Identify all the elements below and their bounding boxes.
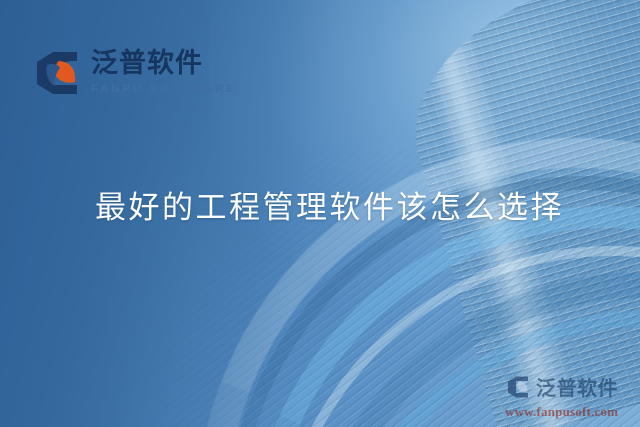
logo-wordmark: 泛普软件 FANPU SOFTWARE	[91, 50, 237, 95]
brand-logo[interactable]: 泛普软件 FANPU SOFTWARE	[33, 50, 237, 95]
fanpu-sail-mark-icon	[33, 51, 81, 95]
logo-company-name-cn: 泛普软件	[91, 50, 237, 77]
banner-headline: 最好的工程管理软件该怎么选择	[95, 182, 564, 227]
promotional-banner: 泛普软件 FANPU SOFTWARE 最好的工程管理软件该怎么选择 泛普软件 …	[0, 0, 640, 427]
logo-company-name-en: FANPU SOFTWARE	[91, 84, 237, 95]
